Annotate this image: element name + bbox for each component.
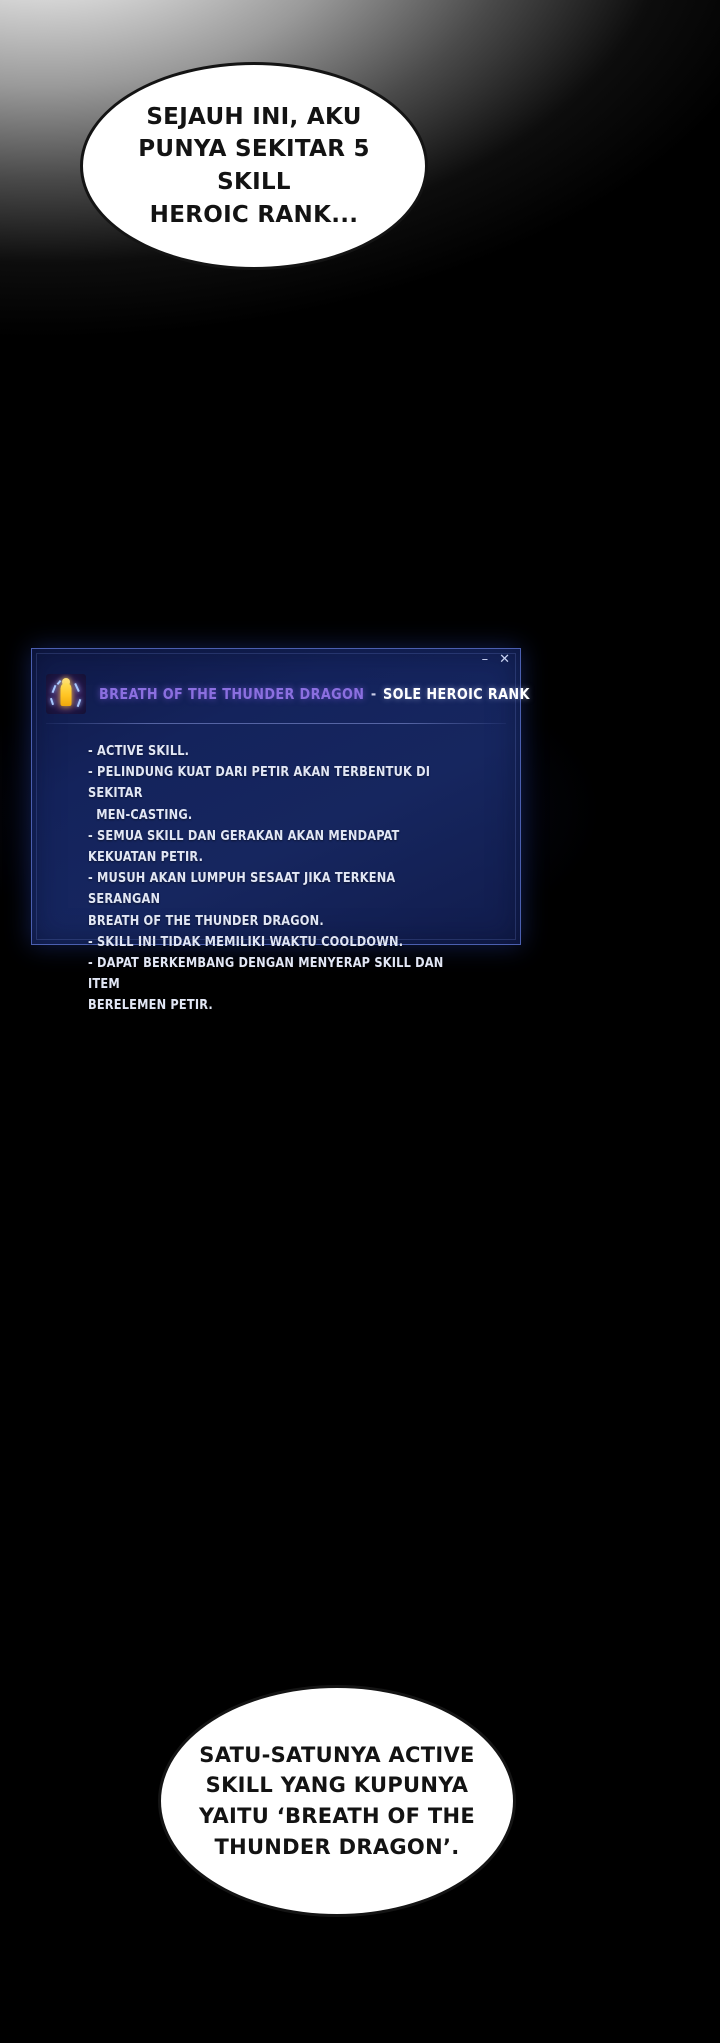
skill-description-line: - ACTIVE SKILL. (88, 741, 471, 762)
thunder-figure-icon (46, 674, 86, 714)
skill-description-line: BREATH OF THE THUNDER DRAGON. (88, 911, 471, 932)
skill-description-line: - SKILL INI TIDAK MEMILIKI WAKTU COOLDOW… (88, 932, 471, 953)
skill-description-line: BERELEMEN PETIR. (88, 995, 471, 1016)
skill-description-line: - PELINDUNG KUAT DARI PETIR AKAN TERBENT… (88, 762, 471, 804)
speech-bubble-top-text: SEJAUH INI, AKU PUNYA SEKITAR 5 SKILL HE… (83, 101, 425, 232)
skill-name-label: BREATH OF THE THUNDER DRAGON (99, 685, 364, 703)
skill-description-line: - DAPAT BERKEMBANG DENGAN MENYERAP SKILL… (88, 953, 471, 995)
speech-bubble-bottom: SATU-SATUNYA ACTIVE SKILL YANG KUPUNYA Y… (158, 1685, 516, 1917)
skill-info-window: – ✕ BREATH OF THE THUNDER DRAGON - SOLE … (31, 648, 521, 945)
minimize-icon[interactable]: – (482, 653, 489, 666)
skill-description-line: - SEMUA SKILL DAN GERAKAN AKAN MENDAPAT … (88, 826, 471, 868)
skill-window-header: BREATH OF THE THUNDER DRAGON - SOLE HERO… (46, 671, 506, 717)
skill-description-line: - MUSUH AKAN LUMPUH SESAAT JIKA TERKENA … (88, 868, 471, 910)
title-separator: - (371, 685, 377, 703)
comic-page-background: SEJAUH INI, AKU PUNYA SEKITAR 5 SKILL HE… (0, 0, 720, 2043)
header-divider (46, 723, 506, 724)
skill-rank-label: SOLE HEROIC RANK (383, 685, 530, 703)
skill-title-line: BREATH OF THE THUNDER DRAGON - SOLE HERO… (99, 685, 530, 703)
window-controls: – ✕ (482, 653, 510, 666)
speech-bubble-top: SEJAUH INI, AKU PUNYA SEKITAR 5 SKILL HE… (80, 62, 428, 270)
skill-description-list: - ACTIVE SKILL. - PELINDUNG KUAT DARI PE… (88, 741, 471, 1017)
close-icon[interactable]: ✕ (499, 653, 510, 666)
skill-description-line: MEN-CASTING. (88, 805, 471, 826)
speech-bubble-bottom-text: SATU-SATUNYA ACTIVE SKILL YANG KUPUNYA Y… (173, 1740, 501, 1863)
